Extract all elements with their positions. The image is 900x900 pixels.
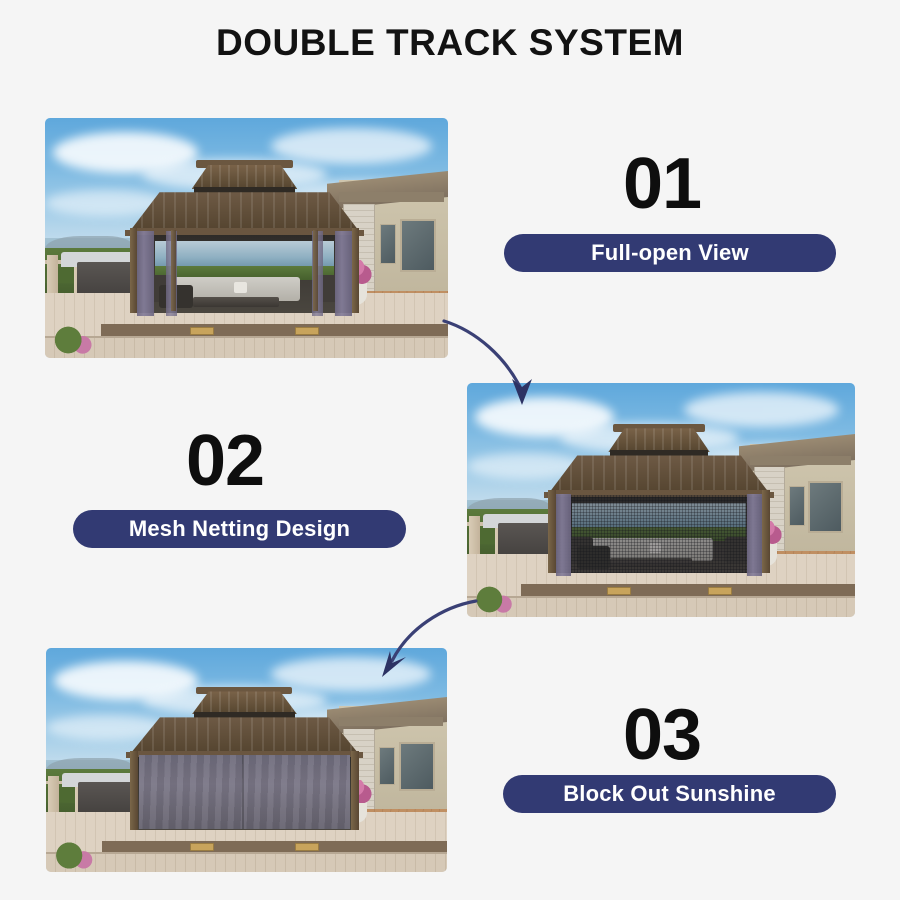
gazebo-post [351, 751, 359, 830]
gazebo-post [548, 490, 556, 573]
step-label-block-out-sunshine[interactable]: Block Out Sunshine [503, 775, 836, 813]
gazebo-beam [130, 228, 360, 235]
bush [50, 841, 98, 870]
roof-upper-tier [192, 165, 298, 189]
gazebo-post [762, 490, 770, 573]
house-window [789, 486, 805, 526]
gazebo [548, 420, 769, 579]
deck-light [295, 843, 319, 851]
roof-lower-tier [548, 455, 769, 493]
interior-ocean-view [155, 241, 335, 268]
scene-mesh [467, 383, 855, 617]
vase [234, 282, 247, 293]
mesh-netting-screen [556, 495, 762, 573]
curtain-open-left [137, 231, 153, 316]
gazebo [130, 156, 360, 319]
roof-upper-tier [192, 691, 297, 714]
curtain-open-left [556, 494, 571, 577]
deck-step [467, 596, 855, 617]
deck-step [46, 852, 447, 872]
curtain-open-right [747, 494, 762, 577]
page-title: DOUBLE TRACK SYSTEM [0, 22, 900, 64]
infographic-page: DOUBLE TRACK SYSTEM [0, 0, 900, 900]
deck-light [190, 327, 214, 335]
coffee-table [193, 297, 279, 306]
roof-upper-tier [608, 428, 710, 452]
photo-mesh-netting-design [467, 383, 855, 617]
deck-riser [102, 841, 447, 852]
deck-light [607, 587, 631, 595]
roof-lower-tier [130, 192, 360, 231]
step-label-mesh-netting-design[interactable]: Mesh Netting Design [73, 510, 406, 548]
deck-step [45, 336, 448, 358]
gazebo-post [313, 230, 318, 312]
gazebo-post [171, 230, 176, 312]
scene-blackout [46, 648, 447, 872]
house-window [400, 219, 436, 272]
step-number-03: 03 [623, 699, 701, 771]
scene-open [45, 118, 448, 358]
gazebo-post [130, 751, 138, 830]
house-window [399, 742, 435, 791]
gazebo-post [130, 228, 138, 313]
deck-riser [101, 324, 448, 336]
house-window [380, 224, 396, 265]
deck-riser [521, 584, 855, 596]
photo-full-open-view [45, 118, 448, 358]
step-number-01: 01 [623, 148, 701, 220]
roof-lower-tier [130, 717, 359, 754]
house-window [379, 747, 395, 785]
gazebo [130, 684, 359, 836]
deck-light [708, 587, 732, 595]
step-label-full-open-view[interactable]: Full-open View [504, 234, 836, 272]
bush [49, 324, 97, 355]
gazebo-post [352, 228, 360, 313]
house-window [808, 481, 843, 532]
deck-light [190, 843, 214, 851]
photo-block-out-sunshine [46, 648, 447, 872]
step-number-02: 02 [186, 425, 264, 497]
blackout-privacy-curtain [139, 755, 349, 828]
curtain-open-right [335, 231, 351, 316]
bush [471, 584, 518, 614]
deck-light [295, 327, 319, 335]
